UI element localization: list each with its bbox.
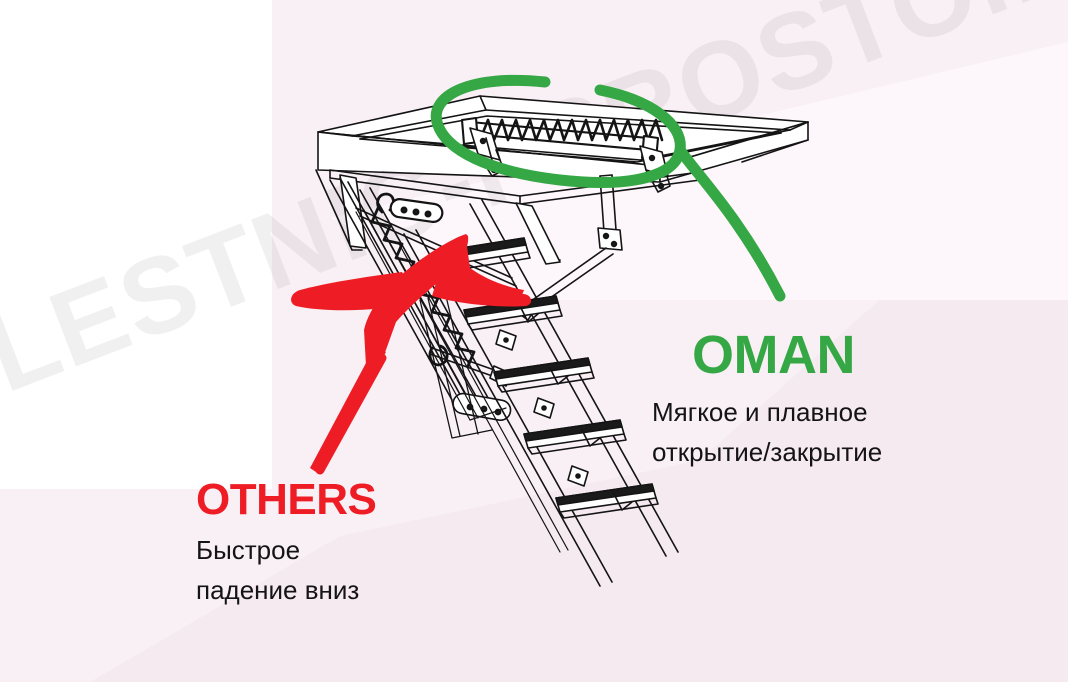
- red-arrow-tail-stroke: [320, 358, 382, 470]
- others-caption-line-2: падение вниз: [196, 570, 359, 610]
- oman-caption-line-2: открытие/закрытие: [652, 432, 882, 472]
- oman-caption: Мягкое и плавное открытие/закрытие: [652, 392, 882, 473]
- oman-caption-line-1: Мягкое и плавное: [652, 392, 882, 432]
- others-caption: Быстрое падение вниз: [196, 530, 359, 611]
- illustration-canvas: LESTNIC-I-PROSTO.RU: [0, 0, 1068, 682]
- red-annotation-marker: [0, 0, 1068, 682]
- red-arrow-wing-left: [291, 272, 410, 310]
- others-caption-line-1: Быстрое: [196, 530, 359, 570]
- others-brand-label: OTHERS: [196, 478, 376, 522]
- oman-brand-label: OMAN: [692, 328, 855, 382]
